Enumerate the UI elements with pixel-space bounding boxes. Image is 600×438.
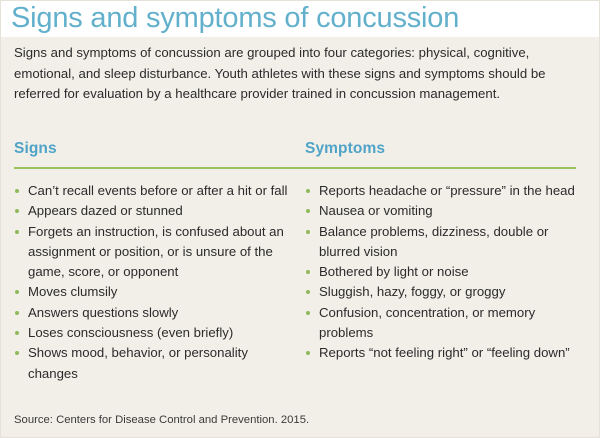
list-item-text: Nausea or vomiting [319, 203, 433, 218]
list-item-text: Loses consciousness (even briefly) [28, 325, 233, 340]
title-band: Signs and symptoms of concussion [1, 1, 600, 37]
green-divider-rule [14, 167, 576, 169]
bullet-dot-icon [15, 290, 19, 294]
page-title: Signs and symptoms of concussion [11, 0, 459, 37]
bullet-dot-icon [15, 311, 19, 315]
list-item-text: Can’t recall events before or after a hi… [28, 183, 287, 198]
symptoms-column: Reports headache or “pressure” in the he… [305, 181, 580, 364]
concussion-infobox: Signs and symptoms of concussion Signs a… [0, 0, 600, 438]
list-item: Shows mood, behavior, or personality cha… [14, 343, 289, 384]
list-item: Reports headache or “pressure” in the he… [305, 181, 580, 201]
column-header-signs: Signs [14, 140, 57, 158]
list-item: Loses consciousness (even briefly) [14, 323, 289, 343]
list-item-text: Appears dazed or stunned [28, 203, 183, 218]
column-header-symptoms: Symptoms [305, 140, 385, 158]
bullet-dot-icon [306, 351, 310, 355]
bullet-dot-icon [306, 189, 310, 193]
list-item-text: Shows mood, behavior, or personality cha… [28, 345, 248, 380]
bullet-dot-icon [15, 189, 19, 193]
bullet-dot-icon [306, 290, 310, 294]
list-item: Sluggish, hazy, foggy, or groggy [305, 282, 580, 302]
list-item: Confusion, concentration, or memory prob… [305, 303, 580, 344]
intro-paragraph: Signs and symptoms of concussion are gro… [14, 43, 580, 105]
bullet-dot-icon [306, 311, 310, 315]
list-item-text: Bothered by light or noise [319, 264, 469, 279]
list-item: Reports “not feeling right” or “feeling … [305, 343, 580, 363]
bullet-dot-icon [15, 331, 19, 335]
list-item-text: Forgets an instruction, is confused abou… [28, 224, 284, 280]
list-item-text: Reports “not feeling right” or “feeling … [319, 345, 570, 360]
list-item: Nausea or vomiting [305, 201, 580, 221]
list-item-text: Answers questions slowly [28, 305, 178, 320]
list-item-text: Reports headache or “pressure” in the he… [319, 183, 575, 198]
list-item: Can’t recall events before or after a hi… [14, 181, 289, 201]
list-item: Moves clumsily [14, 282, 289, 302]
list-item-text: Sluggish, hazy, foggy, or groggy [319, 284, 505, 299]
list-item: Answers questions slowly [14, 303, 289, 323]
list-item-text: Moves clumsily [28, 284, 117, 299]
bullet-dot-icon [306, 270, 310, 274]
symptoms-list: Reports headache or “pressure” in the he… [305, 181, 580, 364]
list-item: Balance problems, dizziness, double or b… [305, 222, 580, 263]
list-item-text: Balance problems, dizziness, double or b… [319, 224, 548, 259]
list-item: Forgets an instruction, is confused abou… [14, 222, 289, 283]
signs-list: Can’t recall events before or after a hi… [14, 181, 289, 384]
list-item: Bothered by light or noise [305, 262, 580, 282]
bullet-dot-icon [15, 209, 19, 213]
list-item: Appears dazed or stunned [14, 201, 289, 221]
list-item-text: Confusion, concentration, or memory prob… [319, 305, 535, 340]
bullet-dot-icon [15, 351, 19, 355]
bullet-dot-icon [306, 209, 310, 213]
bullet-dot-icon [15, 230, 19, 234]
bullet-dot-icon [306, 230, 310, 234]
source-citation: Source: Centers for Disease Control and … [14, 413, 309, 428]
signs-column: Can’t recall events before or after a hi… [14, 181, 289, 384]
